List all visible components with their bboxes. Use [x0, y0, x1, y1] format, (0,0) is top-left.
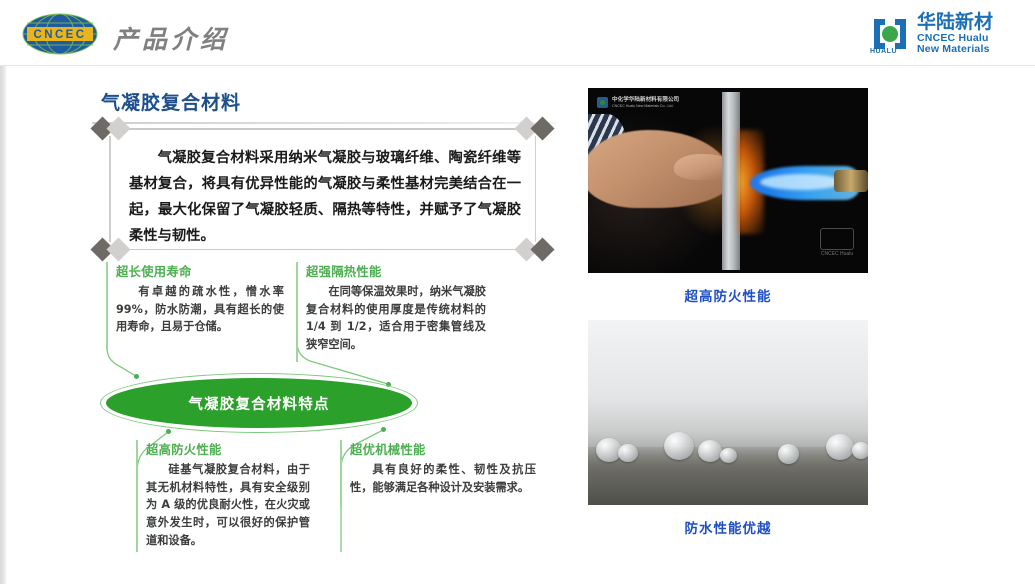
- hualu-en-line2: New Materials: [917, 44, 993, 55]
- watermark-text: 中化学华陆新材料有限公司 CNCEC Hualu New Materials C…: [612, 97, 679, 107]
- connector-dot: [166, 429, 171, 434]
- hualu-cn-name: 华陆新材: [917, 13, 993, 33]
- waterproof-photo: [588, 320, 868, 505]
- hualu-logo: HUALU 华陆新材 CNCEC Hualu New Materials: [870, 12, 1020, 56]
- slide-header: CNCEC 产品介绍 HUALU 华陆新材 CNCEC Hualu New Ma…: [0, 0, 1035, 66]
- feature-block-insulation: 超强隔热性能 在同等保温效果时，纳米气凝胶复合材料的使用厚度是传统材料的 1/4…: [296, 262, 486, 354]
- frame-line-top: [117, 128, 528, 130]
- center-oval-label: 气凝胶复合材料特点: [188, 393, 329, 414]
- feature-title: 超强隔热性能: [306, 262, 486, 280]
- hualu-tag-label: HUALU: [870, 48, 897, 55]
- watermark-logo-icon: [597, 97, 608, 108]
- feature-accent-bar: [340, 440, 342, 508]
- photo-card-waterproof: 防水性能优越: [588, 320, 868, 537]
- photo-caption: 防水性能优越: [588, 517, 868, 537]
- feature-title: 超优机械性能: [350, 440, 536, 458]
- water-droplet: [720, 448, 737, 463]
- water-droplet: [778, 444, 799, 464]
- water-droplet: [664, 432, 694, 460]
- cncec-logo-icon: CNCEC: [21, 11, 99, 57]
- hualu-wordmark: 华陆新材 CNCEC Hualu New Materials: [917, 13, 993, 55]
- svg-text:CNCEC: CNCEC: [34, 29, 87, 41]
- center-oval[interactable]: 气凝胶复合材料特点: [106, 378, 412, 428]
- photo-card-fireproof: 中化学华陆新材料有限公司 CNCEC Hualu New Materials C…: [588, 88, 868, 305]
- section-title-underline: [92, 122, 556, 124]
- page-title: 产品介绍: [113, 20, 229, 56]
- feature-title: 超长使用寿命: [116, 262, 284, 280]
- photo-corner-watermark: CNCEC Hualu: [820, 228, 854, 257]
- section-title: 气凝胶复合材料: [101, 88, 241, 115]
- feature-accent-bar: [106, 262, 108, 350]
- hualu-mark-icon: HUALU: [870, 14, 910, 54]
- frame-line-right: [535, 136, 537, 242]
- feature-accent-bar: [296, 262, 298, 362]
- connector-dot: [134, 374, 139, 379]
- torch-nozzle: [834, 170, 868, 192]
- feature-accent-bar: [136, 440, 138, 552]
- feature-body: 在同等保温效果时，纳米气凝胶复合材料的使用厚度是传统材料的 1/4 到 1/2，…: [306, 283, 486, 354]
- header-divider: [0, 65, 1035, 66]
- photo-caption: 超高防火性能: [588, 285, 868, 305]
- flame-core: [760, 174, 842, 190]
- feature-block-life: 超长使用寿命 有卓越的疏水性，憎水率99%，防水防潮，具有超长的使用寿命，且易于…: [106, 262, 284, 336]
- hex-pattern-icon: [820, 228, 854, 250]
- corner-watermark-label: CNCEC Hualu: [821, 251, 853, 257]
- water-droplet: [618, 444, 638, 462]
- left-edge-strip: [0, 0, 7, 584]
- slide-root: CNCEC 产品介绍 HUALU 华陆新材 CNCEC Hualu New Ma…: [0, 0, 1035, 584]
- water-droplet: [698, 440, 722, 462]
- feature-block-fireproof: 超高防火性能 硅基气凝胶复合材料，由于其无机材料特性，具有安全级别为 A 级的优…: [136, 440, 310, 549]
- intro-paragraph: 气凝胶复合材料采用纳米气凝胶与玻璃纤维、陶瓷纤维等基材复合，将具有优异性能的气凝…: [129, 145, 521, 249]
- feature-title: 超高防火性能: [146, 440, 310, 458]
- feature-block-mechanical: 超优机械性能 具有良好的柔性、韧性及抗压性，能够满足各种设计及安装需求。: [340, 440, 536, 496]
- feature-body: 有卓越的疏水性，憎水率99%，防水防潮，具有超长的使用寿命，且易于仓储。: [116, 283, 284, 336]
- connector-dot: [381, 427, 386, 432]
- feature-body: 硅基气凝胶复合材料，由于其无机材料特性，具有安全级别为 A 级的优良耐火性，在火…: [146, 461, 310, 549]
- water-droplet: [826, 434, 854, 460]
- watermark-en: CNCEC Hualu New Materials Co., Ltd.: [612, 104, 679, 108]
- feature-body: 具有良好的柔性、韧性及抗压性，能够满足各种设计及安装需求。: [350, 461, 536, 496]
- fire-test-photo: 中化学华陆新材料有限公司 CNCEC Hualu New Materials C…: [588, 88, 868, 273]
- features-diagram: 气凝胶复合材料特点 超长使用寿命 有卓越的疏水性，憎水率99%，防水防潮，具有超…: [88, 262, 568, 562]
- intro-frame: 气凝胶复合材料采用纳米气凝胶与玻璃纤维、陶瓷纤维等基材复合，将具有优异性能的气凝…: [95, 128, 550, 250]
- water-droplet: [852, 442, 868, 459]
- frame-line-left: [109, 136, 111, 242]
- photo-watermark-badge: 中化学华陆新材料有限公司 CNCEC Hualu New Materials C…: [597, 97, 679, 108]
